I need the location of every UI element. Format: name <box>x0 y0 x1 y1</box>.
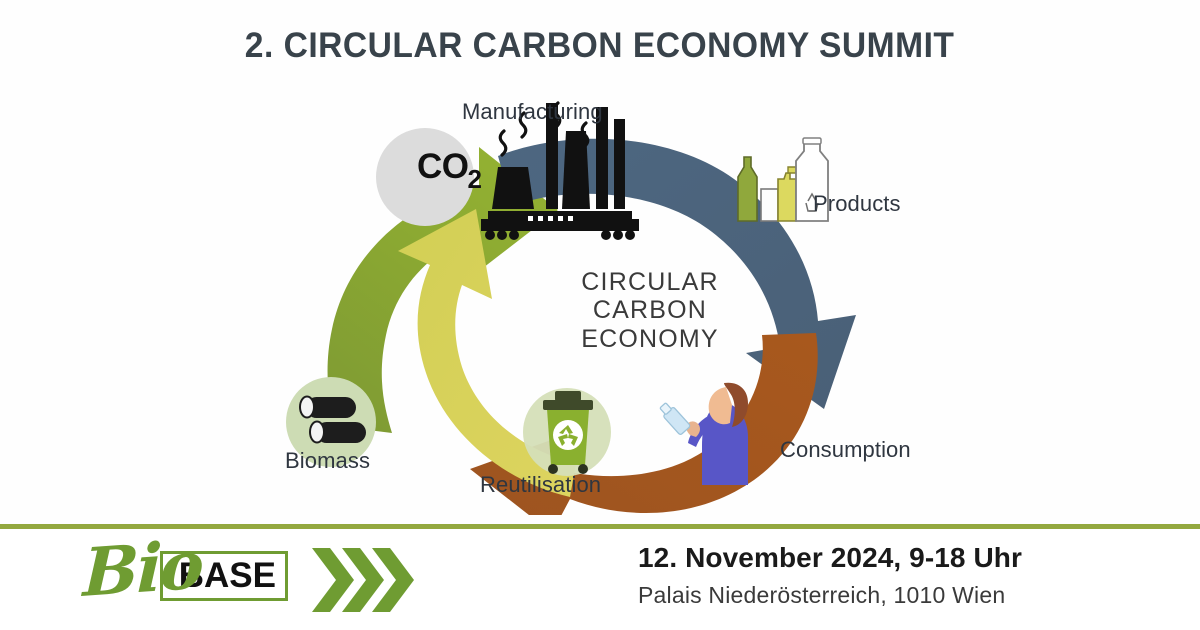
chevrons-icon <box>310 544 414 616</box>
co2-subscript: 2 <box>468 164 482 194</box>
diagram-center-text: CIRCULAR CARBON ECONOMY <box>540 268 760 353</box>
recycling-bin-icon <box>523 388 611 476</box>
event-details: 12. November 2024, 9-18 Uhr Palais Niede… <box>638 542 1158 609</box>
co2-text: CO <box>417 147 469 186</box>
label-biomass: Biomass <box>285 448 370 474</box>
header: 2. CIRCULAR CARBON ECONOMY SUMMIT <box>0 0 1200 92</box>
co2-label: CO2 <box>395 147 505 187</box>
footer: BASE Bio 12. November 2024, 9-18 Uhr Pal… <box>0 529 1200 630</box>
poster-canvas: 2. CIRCULAR CARBON ECONOMY SUMMIT <box>0 0 1200 630</box>
logo-bio-text: Bio <box>82 525 203 612</box>
center-line-1: CIRCULAR <box>540 268 760 296</box>
label-consumption: Consumption <box>780 437 911 463</box>
event-date: 12. November 2024, 9-18 Uhr <box>638 542 1158 574</box>
label-manufacturing: Manufacturing <box>462 99 603 125</box>
center-line-3: ECONOMY <box>540 325 760 353</box>
biobase-logo[interactable]: BASE Bio <box>82 532 412 628</box>
label-reutilisation: Reutilisation <box>480 472 601 498</box>
circular-economy-diagram: CO2 CIRCULAR CARBON ECONOMY Manufacturin… <box>240 85 960 515</box>
label-products: Products <box>813 191 901 217</box>
event-venue: Palais Niederösterreich, 1010 Wien <box>638 582 1158 609</box>
center-line-2: CARBON <box>540 296 760 324</box>
page-title: 2. CIRCULAR CARBON ECONOMY SUMMIT <box>245 26 955 66</box>
